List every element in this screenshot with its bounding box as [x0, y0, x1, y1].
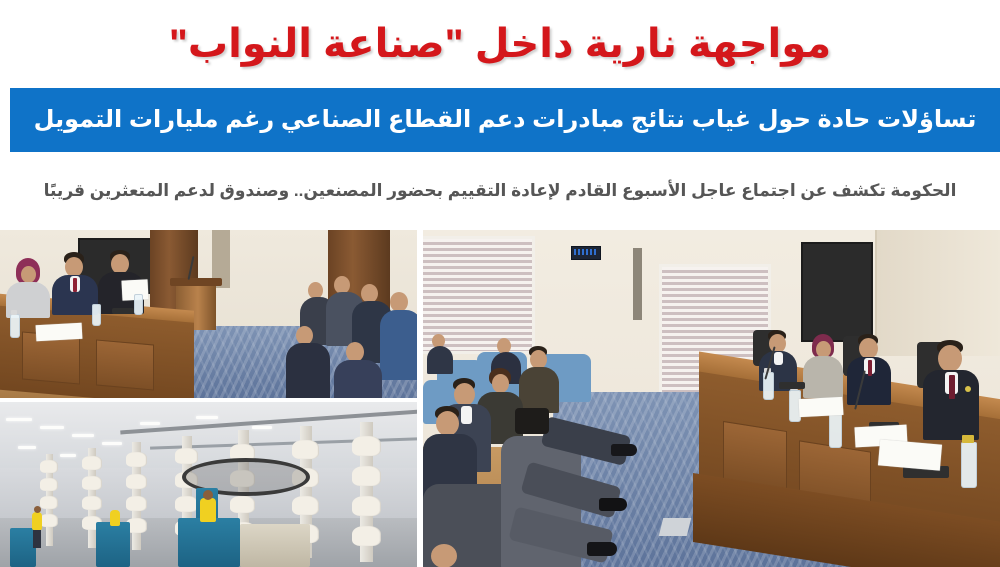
face: [436, 411, 459, 436]
news-article-header: مواجهة نارية داخل "صناعة النواب" تساؤلات…: [0, 0, 1000, 567]
headline-container: مواجهة نارية داخل "صناعة النواب": [0, 0, 1000, 88]
yarn-cone: [352, 496, 381, 516]
machine-left: [96, 522, 130, 567]
yarn-cone: [40, 460, 58, 473]
worker-head-2: [34, 506, 41, 513]
microphone: [112, 308, 134, 314]
yarn-cone: [40, 478, 58, 491]
desk-panel-2: [96, 339, 154, 390]
yarn-cone: [352, 526, 381, 546]
handbag-icon: [515, 408, 549, 434]
face: [859, 338, 878, 359]
jacket: [334, 360, 382, 398]
meeting-room-scene: [0, 230, 417, 398]
jacket: [803, 356, 843, 398]
yarn-cone: [40, 514, 58, 527]
yarn-cone: [175, 448, 198, 464]
deck-container: الحكومة تكشف عن اجتماع عاجل الأسبوع القا…: [0, 152, 1000, 230]
jacket: [380, 310, 417, 380]
bottle-cap-4: [962, 435, 974, 443]
yarn-cone: [40, 496, 58, 509]
document-paper-3: [878, 439, 942, 470]
factory-worker-3: [110, 510, 120, 526]
yarn-cone: [82, 456, 102, 470]
face: [938, 345, 962, 372]
worker-2-legs: [33, 530, 41, 548]
face: [346, 342, 364, 362]
ceiling-lamp: [140, 422, 160, 425]
yarn-cone: [352, 436, 381, 456]
attendee-4: [380, 292, 417, 378]
yarn-cone: [126, 474, 147, 489]
water-bottle-2: [92, 304, 101, 326]
yarn-cone: [292, 496, 319, 515]
ceiling-lamp: [252, 426, 272, 429]
subhead-text: تساؤلات حادة حول غياب نتائج مبادرات دعم …: [22, 107, 989, 133]
ceiling-lamp: [18, 446, 36, 449]
factory-worker: [200, 498, 216, 522]
water-bottle-3: [829, 412, 842, 448]
photo-top-left-meeting: [0, 230, 417, 398]
led-sign-text: [574, 249, 596, 255]
water-bottle-4: [961, 442, 977, 488]
panel-member-woman: [803, 334, 843, 396]
shirt: [774, 352, 783, 365]
tie: [868, 360, 872, 376]
yarn-cone: [126, 452, 147, 467]
ceiling-lamp: [196, 416, 218, 419]
photo-right-committee: [423, 230, 1000, 567]
deck-text: الحكومة تكشف عن اجتماع عاجل الأسبوع القا…: [30, 181, 971, 201]
water-bottle: [10, 314, 20, 338]
attendee-1: [519, 346, 559, 412]
panel-member-1: [6, 258, 52, 316]
yarn-cone: [82, 496, 102, 510]
attendee-5: [286, 326, 330, 398]
face: [21, 266, 36, 283]
yarn-cone: [175, 496, 198, 512]
yarn-cone: [230, 496, 255, 513]
panel-member-3: [847, 334, 891, 404]
jacket: [519, 367, 559, 413]
attendee-back-1: [427, 334, 453, 372]
factory-worker-2: [32, 512, 42, 530]
ceiling-lamp: [6, 418, 32, 421]
document-paper: [799, 397, 844, 417]
face: [492, 374, 509, 393]
tie: [949, 375, 955, 399]
knitting-machine-base: [178, 518, 240, 567]
ceiling-lamp: [102, 442, 122, 445]
jacket: [427, 346, 453, 374]
textile-factory-scene: [0, 402, 417, 567]
floor-vent: [659, 518, 691, 536]
shoe-icon-3: [587, 542, 617, 556]
face: [454, 383, 475, 406]
committee-room-wide-scene: [423, 230, 1000, 567]
shoe-icon: [611, 444, 637, 456]
photo-collage: [0, 230, 1000, 567]
photo-bottom-left-factory: [0, 402, 417, 567]
ceiling-lamp: [72, 434, 94, 437]
ceiling-lamp: [40, 426, 64, 429]
knitting-machine-cover: [240, 524, 310, 567]
lapel-pin-icon: [965, 386, 971, 392]
tie: [73, 278, 77, 292]
wall-column: [633, 248, 642, 320]
ceiling-lamp: [60, 454, 76, 457]
microphone-base: [779, 382, 805, 389]
attendee-6: [334, 342, 382, 398]
worker-head: [203, 490, 213, 500]
yarn-cone: [82, 476, 102, 490]
document-stack: [36, 323, 83, 341]
door-panel: [875, 230, 1000, 356]
face: [65, 257, 83, 277]
jacket: [286, 343, 330, 398]
yarn-cone: [126, 496, 147, 511]
water-bottle-3: [134, 294, 143, 315]
shoe-icon-2: [599, 498, 627, 511]
face: [390, 292, 408, 312]
panel-member-4: [923, 340, 979, 438]
subhead-bar: تساؤلات حادة حول غياب نتائج مبادرات دعم …: [10, 88, 1000, 152]
yarn-cone: [352, 466, 381, 486]
bottle-cap: [11, 310, 17, 315]
page-title: مواجهة نارية داخل "صناعة النواب": [149, 23, 851, 65]
yarn-cone: [292, 440, 319, 459]
face: [431, 544, 457, 567]
podium-top: [170, 278, 222, 286]
face: [111, 254, 129, 274]
display-panel-icon: [801, 242, 873, 342]
